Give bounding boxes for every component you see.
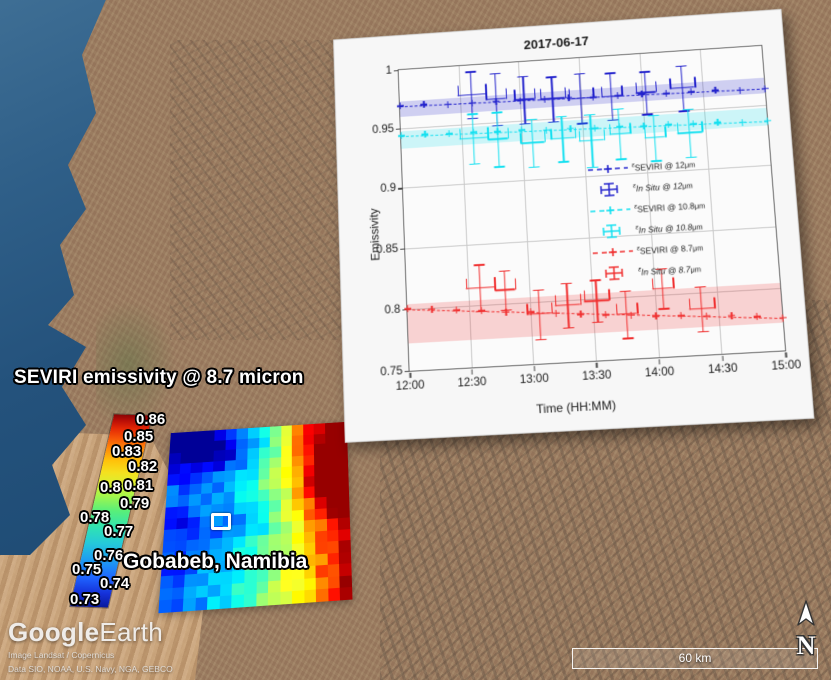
raster-cell — [337, 453, 348, 464]
google-earth-logo: GoogleEarth — [8, 617, 163, 648]
raster-cell — [340, 575, 352, 588]
raster-cell — [183, 598, 196, 611]
raster-cell — [219, 596, 232, 609]
raster-cell — [258, 490, 270, 502]
x-axis-tick-label: 12:30 — [457, 376, 486, 390]
raster-cell — [235, 491, 247, 503]
raster-cell — [316, 553, 328, 566]
error-bar-cap-vertical — [669, 78, 671, 89]
error-bar-cap-vertical — [540, 89, 542, 100]
raster-cell — [292, 591, 304, 604]
raster-cell — [292, 579, 304, 592]
raster-cell — [175, 528, 187, 540]
raster-cell — [224, 470, 236, 481]
error-bar-cap-vertical — [534, 89, 536, 100]
raster-cell — [292, 521, 304, 533]
raster-cell — [281, 477, 292, 489]
colorbar-label: 0.82 — [128, 458, 157, 475]
raster-cell — [327, 530, 339, 542]
earth-wordmark: Earth — [99, 617, 163, 647]
data-point-marker — [689, 121, 696, 128]
raster-cell — [304, 590, 316, 603]
raster-cell — [339, 552, 351, 565]
raster-cell — [292, 509, 304, 521]
raster-cell — [165, 507, 177, 519]
raster-cell — [189, 494, 201, 506]
raster-cell — [337, 474, 349, 485]
raster-cell — [159, 588, 172, 601]
raster-cell — [292, 487, 303, 499]
raster-cell — [233, 536, 245, 548]
raster-cell — [337, 463, 349, 474]
raster-cell — [257, 534, 269, 546]
raster-cell — [281, 488, 292, 500]
raster-cell — [208, 585, 221, 598]
data-point-marker — [779, 314, 787, 322]
raster-cell — [315, 530, 327, 542]
raster-cell — [246, 501, 258, 513]
raster-cell — [340, 587, 352, 600]
data-point-marker — [652, 312, 660, 320]
colorbar-label: 0.86 — [136, 411, 165, 428]
raster-cell — [222, 537, 234, 549]
raster-cell — [187, 528, 199, 540]
error-bar-cap-vertical — [515, 279, 517, 290]
raster-cell — [270, 457, 281, 468]
raster-cell — [245, 535, 257, 547]
raster-cell — [280, 592, 292, 605]
raster-cell — [316, 577, 328, 590]
colorbar-label: 0.81 — [124, 477, 153, 494]
imagery-attribution: Image Landsat / Copernicus — [8, 650, 114, 660]
x-axis-tick-label: 14:00 — [645, 366, 675, 380]
raster-cell — [327, 553, 339, 566]
raster-cell — [303, 465, 314, 476]
error-bar-cap-vertical — [494, 280, 496, 291]
raster-cell — [247, 458, 258, 469]
raster-cell — [314, 465, 325, 476]
raster-cell — [223, 492, 235, 504]
raster-cell — [198, 538, 210, 550]
raster-cell — [208, 573, 220, 586]
data-point-marker — [739, 119, 747, 126]
error-bar-cap-vertical — [584, 291, 586, 302]
raster-cell — [327, 541, 339, 553]
raster-cell — [244, 582, 256, 595]
data-point-marker — [567, 125, 574, 132]
raster-cell — [280, 579, 292, 592]
raster-cell — [269, 522, 281, 534]
raster-cell — [212, 482, 224, 494]
error-bar-cap-vertical — [694, 77, 696, 88]
raster-cell — [232, 595, 244, 608]
raster-cell — [246, 490, 258, 502]
raster-cell — [258, 501, 270, 513]
raster-cell — [292, 477, 303, 489]
raster-cell — [234, 513, 246, 525]
raster-cell — [164, 518, 176, 530]
raster-cell — [316, 589, 328, 602]
raster-cell — [166, 496, 178, 508]
raster-cell — [258, 458, 269, 469]
raster-cell — [338, 495, 350, 507]
x-axis-tick-label: 13:30 — [582, 369, 612, 383]
data-point-marker — [396, 103, 403, 110]
raster-cell — [269, 511, 281, 523]
data-point-marker — [446, 130, 453, 137]
error-bar-cap-horizontal — [494, 166, 505, 168]
error-bar-cap-horizontal — [622, 337, 633, 339]
x-axis-tick-label: 14:30 — [708, 362, 738, 376]
colorbar-label: 0.79 — [120, 495, 149, 512]
data-point-marker — [444, 101, 451, 108]
raster-cell — [281, 456, 292, 467]
raster-cell — [199, 516, 211, 528]
legend-symbol — [592, 243, 633, 259]
error-bar-cap-vertical — [485, 89, 487, 100]
emissivity-overlay-title: SEVIRI emissivity @ 8.7 micron — [14, 367, 304, 389]
gobabeb-site-marker — [211, 513, 231, 530]
raster-cell — [171, 587, 184, 600]
raster-cell — [328, 588, 340, 601]
data-point-marker — [397, 132, 404, 139]
raster-cell — [232, 583, 244, 596]
raster-cell — [199, 527, 211, 539]
emissivity-raster-patch — [158, 422, 352, 613]
raster-cell — [326, 485, 338, 497]
raster-cell — [235, 480, 247, 492]
raster-cell — [257, 523, 269, 535]
data-point-marker — [453, 306, 460, 313]
data-point-marker — [420, 101, 427, 108]
raster-cell — [338, 517, 350, 529]
raster-cell — [235, 470, 247, 481]
legend-symbol — [591, 223, 632, 239]
data-point-marker — [736, 86, 743, 93]
raster-cell — [339, 529, 351, 541]
x-axis-tick-label: 15:00 — [771, 359, 802, 373]
data-point-marker — [404, 305, 411, 312]
data-point-marker — [761, 85, 769, 92]
raster-cell — [166, 485, 178, 497]
raster-cell — [212, 493, 224, 505]
raster-cell — [224, 481, 236, 493]
raster-cell — [244, 594, 256, 607]
legend-label: εSEVIRI @ 8.7μm — [637, 241, 704, 256]
raster-cell — [187, 516, 199, 528]
raster-cell — [163, 529, 175, 541]
data-point-marker — [421, 131, 428, 138]
error-bar-cap-horizontal — [698, 331, 709, 333]
legend-symbol — [589, 181, 630, 197]
raster-cell — [177, 495, 189, 507]
raster-cell — [280, 533, 292, 545]
google-wordmark: Google — [8, 617, 99, 647]
raster-cell — [326, 474, 338, 486]
raster-cell — [268, 580, 280, 593]
raster-cell — [210, 537, 222, 549]
raster-cell — [245, 524, 257, 536]
raster-cell — [172, 575, 185, 588]
raster-cell — [315, 519, 327, 531]
raster-cell — [315, 486, 327, 498]
raster-cell — [160, 576, 173, 589]
chart-legend[interactable]: εSEVIRI @ 12μmεIn Situ @ 12μmεSEVIRI @ 1… — [587, 150, 746, 284]
raster-cell — [189, 483, 201, 495]
raster-cell — [257, 512, 269, 524]
gobabeb-site-label: Gobabeb, Namibia — [123, 550, 307, 574]
raster-cell — [200, 493, 212, 505]
raster-cell — [269, 500, 281, 512]
raster-cell — [258, 468, 269, 479]
error-bar-cap-horizontal — [559, 161, 570, 163]
raster-cell — [292, 466, 303, 477]
raster-cell — [304, 520, 316, 532]
compass-north-label: N — [789, 633, 823, 659]
legend-label: εIn Situ @ 8.7μm — [638, 262, 701, 276]
raster-cell — [338, 506, 350, 518]
google-earth-viewport[interactable]: SEVIRI emissivity @ 8.7 micron 0.860.850… — [0, 0, 831, 680]
error-bar-cap-vertical — [655, 82, 657, 93]
legend-symbol — [594, 265, 635, 281]
scale-bar-label: 60 km — [573, 651, 817, 665]
raster-cell — [315, 475, 326, 487]
raster-cell — [256, 593, 268, 606]
y-axis-tick-label: 0.85 — [376, 243, 398, 256]
raster-cell — [256, 581, 268, 594]
raster-cell — [292, 498, 304, 510]
data-point-marker — [577, 310, 584, 317]
raster-cell — [236, 459, 248, 470]
raster-cell — [304, 531, 316, 543]
raster-cell — [337, 484, 349, 496]
colorbar-label: 0.77 — [104, 523, 133, 540]
error-bar-cap-vertical — [506, 88, 508, 99]
legend-label: εSEVIRI @ 10.8μm — [634, 199, 705, 214]
raster-cell — [247, 480, 259, 492]
error-bar-cap-horizontal — [528, 166, 539, 168]
north-arrow-compass: N — [789, 598, 823, 656]
raster-cell — [220, 584, 232, 597]
raster-cell — [315, 508, 327, 520]
raster-cell — [269, 534, 281, 546]
raster-cell — [184, 574, 197, 587]
legend-label: εIn Situ @ 10.8μm — [635, 220, 703, 235]
raster-cell — [303, 487, 314, 499]
data-point-marker — [591, 124, 598, 131]
raster-cell — [304, 578, 316, 591]
legend-label: εIn Situ @ 12μm — [633, 179, 693, 193]
raster-cell — [292, 532, 304, 544]
error-bar-cap-horizontal — [535, 338, 546, 340]
raster-cell — [234, 525, 246, 537]
data-point-marker — [728, 312, 736, 320]
colorbar-label: 0.75 — [72, 561, 101, 578]
data-point-marker — [663, 90, 670, 97]
raster-cell — [171, 599, 184, 612]
raster-cell — [326, 496, 338, 508]
x-axis-tick-label: 12:00 — [396, 379, 425, 393]
raster-cell — [328, 576, 340, 589]
raster-cell — [201, 483, 213, 495]
raster-cell — [234, 502, 246, 514]
raster-cell — [176, 517, 188, 529]
colorbar-label: 0.74 — [100, 575, 129, 592]
data-point-marker — [602, 311, 609, 318]
raster-cell — [183, 586, 196, 599]
raster-cell — [269, 467, 280, 478]
x-axis-tick-label: 13:00 — [519, 372, 549, 386]
raster-cell — [303, 476, 314, 488]
error-bar-cap-horizontal — [469, 163, 480, 165]
data-point-marker — [714, 119, 721, 126]
error-bar-cap-vertical — [635, 83, 637, 94]
error-bar-cap-vertical — [608, 289, 610, 300]
raster-cell — [280, 510, 292, 522]
raster-cell — [247, 469, 259, 480]
colorbar-label: 0.8 — [100, 479, 121, 496]
raster-cell — [281, 499, 293, 511]
data-point-marker — [428, 305, 435, 312]
data-attribution: Data SIO, NOAA, U.S. Navy, NGA, GEBCO — [8, 664, 173, 674]
map-scale-bar: 60 km — [572, 648, 818, 669]
legend-symbol — [588, 160, 629, 176]
data-point-marker — [552, 309, 559, 316]
raster-cell — [303, 498, 315, 510]
raster-cell — [213, 471, 225, 482]
raster-cell — [281, 467, 292, 478]
emissivity-timeseries-chart[interactable]: 2017-06-17 Emissivity Time (HH:MM) 12:00… — [333, 9, 814, 443]
raster-cell — [315, 497, 327, 509]
y-axis-tick-label: 0.8 — [384, 303, 400, 316]
raster-cell — [339, 540, 351, 552]
north-arrow-icon — [789, 598, 823, 628]
error-bar-cap-horizontal — [532, 289, 543, 291]
data-point-marker — [703, 312, 711, 320]
legend-symbol — [590, 202, 631, 218]
data-point-marker — [763, 117, 771, 124]
data-point-marker — [712, 87, 719, 94]
raster-cell — [177, 506, 189, 518]
error-bar-cap-vertical — [564, 88, 566, 99]
raster-cell — [268, 592, 280, 605]
data-point-marker — [753, 313, 761, 321]
raster-cell — [326, 464, 337, 475]
raster-cell — [188, 505, 200, 517]
raster-cell — [158, 600, 171, 613]
error-bar-cap-vertical — [514, 90, 516, 101]
colorbar-label: 0.73 — [70, 591, 99, 608]
raster-cell — [328, 564, 340, 577]
raster-cell — [327, 518, 339, 530]
raster-cell — [246, 513, 258, 525]
raster-cell — [269, 489, 281, 501]
raster-cell — [200, 504, 212, 516]
raster-cell — [258, 479, 270, 491]
y-axis-tick-label: 0.75 — [380, 365, 403, 378]
data-point-marker — [687, 88, 694, 95]
y-axis-tick-label: 1 — [385, 65, 392, 77]
raster-cell — [178, 484, 190, 496]
raster-cell — [327, 507, 339, 519]
legend-label: εSEVIRI @ 12μm — [631, 158, 695, 173]
y-axis-tick-label: 0.95 — [372, 123, 394, 136]
raster-cell — [196, 585, 209, 598]
raster-cell — [316, 565, 328, 578]
data-point-marker — [677, 312, 685, 320]
raster-cell — [316, 542, 328, 554]
raster-cell — [304, 509, 316, 521]
raster-cell — [196, 573, 209, 586]
raster-cell — [280, 521, 292, 533]
raster-cell — [195, 597, 208, 610]
raster-cell — [207, 597, 220, 610]
raster-cell — [269, 478, 280, 490]
y-axis-tick-label: 0.9 — [380, 183, 396, 196]
raster-cell — [340, 563, 352, 576]
